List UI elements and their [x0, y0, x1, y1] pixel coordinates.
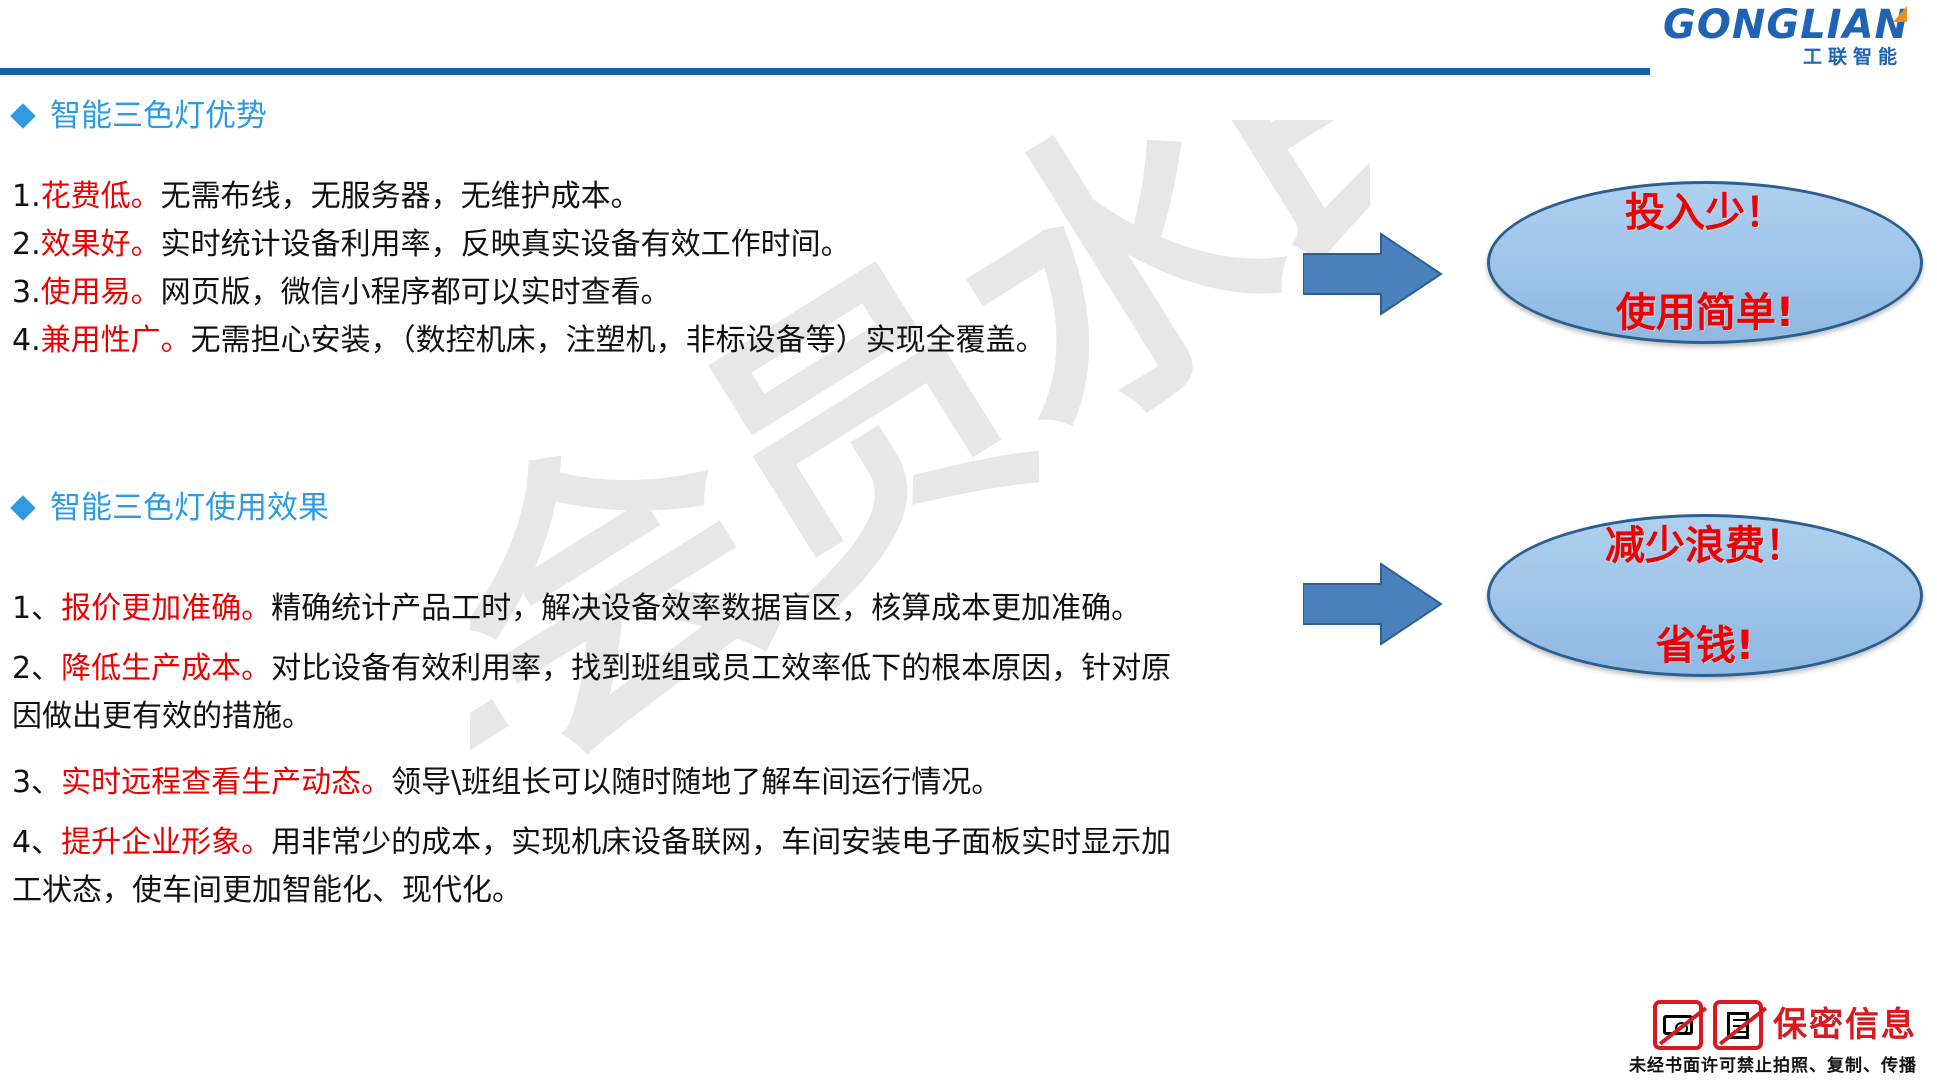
advantage-item-3-body: 网页版，微信小程序都可以实时查看。: [161, 275, 671, 310]
arrow-bottom: [1303, 562, 1443, 646]
logo-subtitle: 工联智能: [1579, 46, 1909, 68]
slide-root: 非会员水印 GONGLIAN 工联智能 智能三色灯优势 1.花费低。无需布线，无…: [0, 0, 1937, 1090]
advantage-item-3-number: 3.: [12, 275, 41, 310]
arrow-top-shape: [1303, 234, 1441, 314]
effect-item-2-number: 2、: [12, 651, 61, 686]
brand-logo: GONGLIAN 工联智能: [1579, 4, 1909, 70]
diamond-bullet-icon: [10, 103, 35, 128]
effect-item-4: 4、提升企业形象。用非常少的成本，实现机床设备联网，车间安装电子面板实时显示加工…: [12, 819, 1172, 915]
confidential-notice: 保密信息 未经书面许可禁止拍照、复制、传播: [1629, 1000, 1917, 1078]
section-title-effects: 智能三色灯使用效果: [50, 488, 329, 528]
arrow-top: [1303, 232, 1443, 316]
advantage-item-4-number: 4.: [12, 323, 41, 358]
no-camera-icon: [1653, 1000, 1703, 1050]
effect-item-1-number: 1、: [12, 591, 61, 626]
advantage-item-2-highlight: 效果好。: [41, 227, 161, 262]
section-heading-effects: 智能三色灯使用效果: [14, 488, 329, 528]
advantage-item-1-number: 1.: [12, 179, 41, 214]
advantage-item-4-body: 无需担心安装，（数控机床，注塑机，非标设备等）实现全覆盖。: [191, 323, 1046, 358]
callout-top-line1: 投入少！: [1616, 188, 1794, 238]
effect-item-3-number: 3、: [12, 765, 61, 800]
effect-item-2: 2、降低生产成本。对比设备有效利用率，找到班组或员工效率低下的根本原因，针对原因…: [12, 645, 1172, 741]
confidential-row: 保密信息: [1629, 1000, 1917, 1050]
no-copy-icon: [1713, 1000, 1763, 1050]
effect-item-2-highlight: 降低生产成本。: [61, 651, 271, 686]
diamond-bullet-icon: [10, 495, 35, 520]
header-divider: [0, 68, 1650, 75]
advantage-item-4-highlight: 兼用性广。: [41, 323, 191, 358]
effect-item-3: 3、实时远程查看生产动态。领导\班组长可以随时随地了解车间运行情况。: [12, 759, 1001, 807]
advantage-item-2-number: 2.: [12, 227, 41, 262]
advantage-item-1: 1.花费低。无需布线，无服务器，无维护成本。: [12, 173, 641, 221]
advantage-item-4: 4.兼用性广。无需担心安装，（数控机床，注塑机，非标设备等）实现全覆盖。: [12, 317, 1046, 365]
callout-bottom-line1: 减少浪费！: [1605, 521, 1805, 571]
callout-bottom: 减少浪费！ 省钱!: [1487, 514, 1923, 677]
effect-item-4-highlight: 提升企业形象。: [61, 825, 271, 860]
logo-wordmark: GONGLIAN: [1579, 4, 1909, 46]
confidential-subtitle: 未经书面许可禁止拍照、复制、传播: [1629, 1054, 1917, 1078]
effect-item-3-body: 领导\班组长可以随时随地了解车间运行情况。: [391, 765, 1001, 800]
advantage-item-2-body: 实时统计设备利用率，反映真实设备有效工作时间。: [161, 227, 851, 262]
advantage-item-1-highlight: 花费低。: [41, 179, 161, 214]
effect-item-1: 1、报价更加准确。精确统计产品工时，解决设备效率数据盲区，核算成本更加准确。: [12, 585, 1141, 633]
logo-swoosh-icon: [1893, 6, 1907, 22]
effect-item-1-highlight: 报价更加准确。: [61, 591, 271, 626]
callout-top-text: 投入少！ 使用简单!: [1616, 138, 1794, 388]
advantage-item-3: 3.使用易。网页版，微信小程序都可以实时查看。: [12, 269, 671, 317]
section-heading-advantages: 智能三色灯优势: [14, 96, 267, 136]
arrow-bottom-shape: [1303, 564, 1441, 644]
callout-top-line2: 使用简单!: [1616, 288, 1794, 338]
callout-top: 投入少！ 使用简单!: [1487, 181, 1923, 344]
effect-item-1-body: 精确统计产品工时，解决设备效率数据盲区，核算成本更加准确。: [271, 591, 1141, 626]
advantage-item-1-body: 无需布线，无服务器，无维护成本。: [161, 179, 641, 214]
advantage-item-2: 2.效果好。实时统计设备利用率，反映真实设备有效工作时间。: [12, 221, 851, 269]
effect-item-4-number: 4、: [12, 825, 61, 860]
advantage-item-3-highlight: 使用易。: [41, 275, 161, 310]
confidential-title: 保密信息: [1773, 1005, 1917, 1045]
callout-bottom-text: 减少浪费！ 省钱!: [1605, 471, 1805, 721]
callout-bottom-line2: 省钱!: [1605, 621, 1805, 671]
section-title-advantages: 智能三色灯优势: [50, 96, 267, 136]
effect-item-3-highlight: 实时远程查看生产动态。: [61, 765, 391, 800]
